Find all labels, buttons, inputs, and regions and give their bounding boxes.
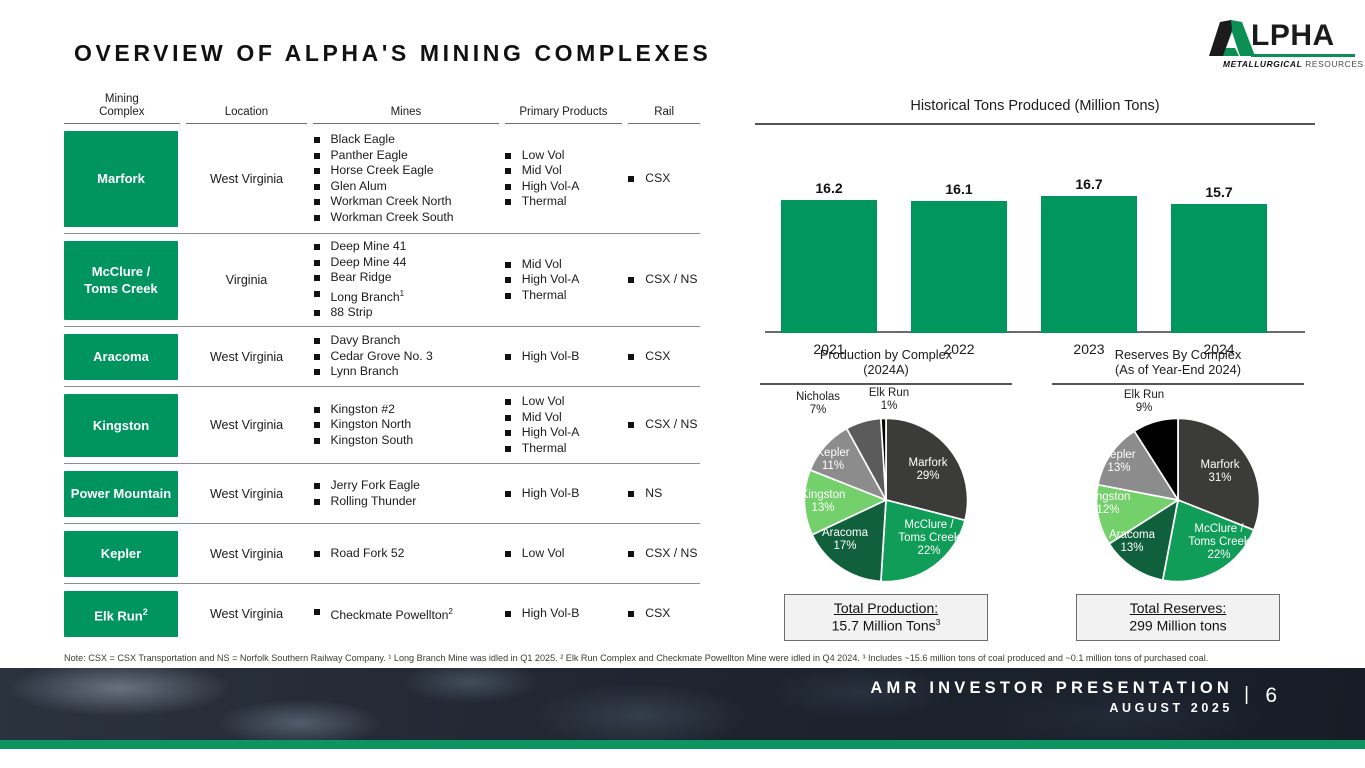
- table-row: AracomaWest VirginiaDavy BranchCedar Gro…: [64, 327, 700, 387]
- product-item-text: Mid Vol: [522, 410, 562, 426]
- mine-item-text: 88 Strip: [331, 305, 373, 321]
- product-item-text: Thermal: [522, 441, 567, 457]
- cell-location: West Virginia: [186, 387, 308, 463]
- production-pie-title-rule: [760, 383, 1012, 385]
- production-pie-title-line2: (2024A): [760, 362, 1012, 377]
- mine-item-text: Rolling Thunder: [331, 494, 417, 510]
- pie-label-elk-run: Elk Run 1%: [856, 387, 922, 413]
- mining-complex-table: Mining Complex Location Mines Primary Pr…: [64, 92, 700, 644]
- bullet-square-icon: [314, 407, 320, 413]
- location-text: Virginia: [186, 273, 308, 287]
- cell-mines: Black EaglePanther EagleHorse Creek Eagl…: [314, 124, 499, 233]
- product-item: High Vol-B: [505, 349, 580, 365]
- bullet-square-icon: [505, 611, 511, 617]
- footer-date: AUGUST 2025: [870, 701, 1233, 715]
- mine-item: Lynn Branch: [314, 364, 433, 380]
- rail-item-text: NS: [645, 486, 662, 502]
- bullet-square-icon: [628, 176, 634, 182]
- product-item: Thermal: [505, 194, 580, 210]
- product-item-text: High Vol-B: [522, 606, 580, 622]
- mine-item-text: Lynn Branch: [331, 364, 399, 380]
- footnote-note: Note: CSX = CSX Transportation and NS = …: [64, 652, 1309, 664]
- rail-item-text: CSX: [645, 606, 670, 622]
- cell-mining-complex: Kepler: [64, 524, 180, 583]
- mine-item-text: Black Eagle: [331, 132, 395, 148]
- product-item: Low Vol: [505, 148, 580, 164]
- mine-item-text: Road Fork 52: [331, 546, 405, 562]
- pie-label-kingston: Kingston 12%: [1070, 491, 1146, 517]
- location-text: West Virginia: [186, 547, 308, 561]
- pie-label-kepler: Kepler 11%: [802, 447, 864, 473]
- table-row: Elk Run2West VirginiaCheckmate Powellton…: [64, 584, 700, 644]
- cell-mining-complex: Elk Run2: [64, 584, 180, 644]
- cell-mines: Kingston #2Kingston NorthKingston South: [314, 387, 499, 463]
- total-production-value: 15.7 Million Tons3: [791, 617, 981, 634]
- alpha-a-mark-icon: [1209, 20, 1255, 58]
- reserves-pie-chart: Elk Run 9% Kepler 13% Kingston 12% Araco…: [1052, 387, 1304, 592]
- product-item: Mid Vol: [505, 257, 580, 273]
- bullet-square-icon: [314, 422, 320, 428]
- pie-label-marfork: Marfork 31%: [1182, 459, 1258, 485]
- cell-rail: CSX / NS: [628, 387, 700, 463]
- mine-item-text: Kingston South: [331, 433, 414, 449]
- product-item-text: Low Vol: [522, 394, 565, 410]
- rail-item-text: CSX: [645, 349, 670, 365]
- col-header-location: Location: [186, 92, 308, 124]
- table-row: MarforkWest VirginiaBlack EaglePanther E…: [64, 124, 700, 234]
- bullet-square-icon: [505, 551, 511, 557]
- mine-item: Glen Alum: [314, 179, 454, 195]
- cell-primary-products: High Vol-B: [505, 464, 623, 523]
- bar: [1171, 204, 1267, 333]
- bullet-square-icon: [628, 422, 634, 428]
- cell-mining-complex: McClure /Toms Creek: [64, 234, 180, 326]
- bullet-square-icon: [505, 262, 511, 268]
- historical-tons-bar-chart: Historical Tons Produced (Million Tons) …: [755, 98, 1315, 365]
- bullet-square-icon: [505, 277, 511, 283]
- table-body: MarforkWest VirginiaBlack EaglePanther E…: [64, 124, 700, 644]
- complex-name-badge[interactable]: Kingston: [64, 394, 178, 457]
- logo-wordmark: LPHA: [1251, 20, 1335, 52]
- product-item-text: Low Vol: [522, 546, 565, 562]
- pie-label-aracoma: Aracoma 13%: [1092, 529, 1172, 555]
- mine-item-text: Checkmate Powellton2: [331, 604, 453, 624]
- bullet-square-icon: [505, 168, 511, 174]
- product-item: Thermal: [505, 288, 580, 304]
- page-title: OVERVIEW OF ALPHA'S MINING COMPLEXES: [74, 40, 711, 67]
- cell-primary-products: High Vol-B: [505, 327, 623, 386]
- reserves-pie-title: Reserves By Complex (As of Year-End 2024…: [1052, 347, 1304, 377]
- total-reserves-box: Total Reserves: 299 Million tons: [1076, 594, 1280, 642]
- mine-item: Road Fork 52: [314, 546, 405, 562]
- pie-label-marfork: Marfork 29%: [890, 457, 966, 483]
- rail-item: CSX: [628, 606, 670, 622]
- mine-item-text: Davy Branch: [331, 333, 401, 349]
- cell-mining-complex: Kingston: [64, 387, 180, 463]
- bullet-square-icon: [314, 369, 320, 375]
- mine-item-text: Bear Ridge: [331, 270, 392, 286]
- product-item: High Vol-A: [505, 272, 580, 288]
- rail-item-text: CSX / NS: [645, 417, 697, 433]
- mine-item: Workman Creek North: [314, 194, 454, 210]
- bullet-square-icon: [505, 491, 511, 497]
- bullet-square-icon: [505, 199, 511, 205]
- bullet-square-icon: [314, 215, 320, 221]
- table-row: Power MountainWest VirginiaJerry Fork Ea…: [64, 464, 700, 524]
- rail-item-text: CSX / NS: [645, 272, 697, 288]
- cell-location: West Virginia: [186, 524, 308, 583]
- complex-name-badge[interactable]: Power Mountain: [64, 471, 178, 517]
- bullet-square-icon: [314, 153, 320, 159]
- rail-item-text: CSX: [645, 171, 670, 187]
- logo-subtitle-light: RESOURCES: [1305, 59, 1363, 69]
- bar-column: 16.1: [911, 181, 1007, 333]
- bullet-square-icon: [314, 184, 320, 190]
- bullet-square-icon: [505, 399, 511, 405]
- rail-item: CSX / NS: [628, 272, 697, 288]
- bar-chart-title: Historical Tons Produced (Million Tons): [755, 98, 1315, 114]
- pie-label-kingston: Kingston 13%: [785, 489, 861, 515]
- product-item-text: High Vol-A: [522, 179, 580, 195]
- product-item-text: Low Vol: [522, 148, 565, 164]
- bar: [781, 200, 877, 333]
- cell-rail: CSX: [628, 584, 700, 644]
- table-row: McClure /Toms CreekVirginiaDeep Mine 41D…: [64, 234, 700, 327]
- mine-item-text: Panther Eagle: [331, 148, 408, 164]
- cell-mining-complex: Aracoma: [64, 327, 180, 386]
- product-item-text: Thermal: [522, 288, 567, 304]
- cell-rail: CSX / NS: [628, 234, 700, 326]
- footer-green-strip: [0, 740, 1365, 749]
- cell-rail: CSX / NS: [628, 524, 700, 583]
- location-text: West Virginia: [186, 172, 308, 186]
- mine-item: Jerry Fork Eagle: [314, 478, 420, 494]
- bullet-square-icon: [505, 354, 511, 360]
- mine-item-text: Cedar Grove No. 3: [331, 349, 433, 365]
- mine-item-text: Jerry Fork Eagle: [331, 478, 420, 494]
- complex-name-badge[interactable]: Aracoma: [64, 334, 178, 380]
- total-production-label: Total Production:: [791, 600, 981, 616]
- bar-value-label: 16.1: [911, 181, 1007, 197]
- cell-mines: Checkmate Powellton2: [314, 584, 499, 644]
- complex-name-badge[interactable]: Marfork: [64, 131, 178, 227]
- product-item: Low Vol: [505, 394, 580, 410]
- bullet-square-icon: [314, 438, 320, 444]
- mine-item: Rolling Thunder: [314, 494, 420, 510]
- bar-column: 16.2: [781, 180, 877, 333]
- product-item-text: High Vol-B: [522, 486, 580, 502]
- bar-value-label: 16.2: [781, 180, 877, 196]
- product-item: High Vol-B: [505, 606, 580, 622]
- bullet-square-icon: [505, 293, 511, 299]
- cell-rail: NS: [628, 464, 700, 523]
- bullet-square-icon: [628, 611, 634, 617]
- bullet-square-icon: [628, 354, 634, 360]
- mine-item-text: Glen Alum: [331, 179, 387, 195]
- bar-column: 16.7: [1041, 176, 1137, 333]
- bullet-square-icon: [505, 446, 511, 452]
- alpha-logo: LPHA METALLURGICAL RESOURCES: [1205, 18, 1357, 76]
- cell-location: West Virginia: [186, 584, 308, 644]
- pie-label-nicholas: Nicholas 7%: [780, 391, 856, 417]
- production-pie-title: Production by Complex (2024A): [760, 347, 1012, 377]
- cell-mines: Deep Mine 41Deep Mine 44Bear RidgeLong B…: [314, 234, 499, 326]
- product-item-text: High Vol-A: [522, 425, 580, 441]
- mine-item: Davy Branch: [314, 333, 433, 349]
- mine-item: Kingston North: [314, 417, 414, 433]
- location-text: West Virginia: [186, 418, 308, 432]
- mine-item: Horse Creek Eagle: [314, 163, 454, 179]
- pie-label-mcclure-toms-creek: McClure / Toms Creek 22%: [1174, 523, 1264, 562]
- mine-item: Bear Ridge: [314, 270, 407, 286]
- mine-item: Workman Creek South: [314, 210, 454, 226]
- mine-item-text: Workman Creek South: [331, 210, 454, 226]
- bullet-square-icon: [628, 277, 634, 283]
- bullet-square-icon: [314, 499, 320, 505]
- cell-rail: CSX: [628, 124, 700, 233]
- mine-item-text: Workman Creek North: [331, 194, 452, 210]
- rail-item: CSX: [628, 349, 670, 365]
- table-header-row: Mining Complex Location Mines Primary Pr…: [64, 92, 700, 124]
- col-header-primary-products: Primary Products: [505, 92, 623, 124]
- bullet-square-icon: [314, 551, 320, 557]
- bullet-square-icon: [314, 199, 320, 205]
- bar-value-label: 15.7: [1171, 184, 1267, 200]
- logo-subtitle: METALLURGICAL RESOURCES: [1223, 59, 1364, 69]
- mine-item-text: Deep Mine 41: [331, 239, 407, 255]
- mine-item: Deep Mine 44: [314, 255, 407, 271]
- cell-mines: Jerry Fork EagleRolling Thunder: [314, 464, 499, 523]
- bullet-square-icon: [314, 244, 320, 250]
- mine-item-text: Kingston #2: [331, 402, 395, 418]
- product-item: Mid Vol: [505, 410, 580, 426]
- col-header-mining-complex-line2: Complex: [99, 106, 144, 119]
- bullet-square-icon: [314, 310, 320, 316]
- total-production-box: Total Production: 15.7 Million Tons3: [784, 594, 988, 642]
- bullet-square-icon: [314, 168, 320, 174]
- reserves-by-complex-pie-panel: Reserves By Complex (As of Year-End 2024…: [1052, 347, 1304, 641]
- slide-root: OVERVIEW OF ALPHA'S MINING COMPLEXES LPH…: [0, 0, 1365, 768]
- logo-subtitle-bold: METALLURGICAL: [1223, 59, 1302, 69]
- bullet-square-icon: [314, 354, 320, 360]
- col-header-mining-complex-line1: Mining: [99, 93, 144, 106]
- bullet-square-icon: [628, 551, 634, 557]
- mine-item: 88 Strip: [314, 305, 407, 321]
- rail-item: NS: [628, 486, 662, 502]
- product-item: Thermal: [505, 441, 580, 457]
- product-item-text: Mid Vol: [522, 257, 562, 273]
- mine-item: Kingston #2: [314, 402, 414, 418]
- mine-item: Black Eagle: [314, 132, 454, 148]
- bullet-square-icon: [628, 491, 634, 497]
- complex-name-badge[interactable]: Elk Run2: [64, 591, 178, 637]
- rail-item-text: CSX / NS: [645, 546, 697, 562]
- bar-chart-plot-area: 16.216.116.715.7: [755, 141, 1315, 333]
- bullet-square-icon: [505, 415, 511, 421]
- rail-item: CSX / NS: [628, 417, 697, 433]
- reserves-pie-title-line2: (As of Year-End 2024): [1052, 362, 1304, 377]
- production-pie-chart: Nicholas 7% Elk Run 1% Kepler 11% Kingst…: [760, 387, 1012, 592]
- location-text: West Virginia: [186, 487, 308, 501]
- cell-primary-products: Low VolMid VolHigh Vol-AThermal: [505, 387, 623, 463]
- product-item-text: High Vol-B: [522, 349, 580, 365]
- complex-name-badge[interactable]: Kepler: [64, 531, 178, 577]
- product-item: Low Vol: [505, 546, 565, 562]
- product-item-text: Mid Vol: [522, 163, 562, 179]
- pie-label-mcclure-toms-creek: McClure / Toms Creek 22%: [886, 519, 972, 558]
- bullet-square-icon: [505, 430, 511, 436]
- bar-chart-title-rule: [755, 123, 1315, 125]
- cell-mining-complex: Marfork: [64, 124, 180, 233]
- product-item: High Vol-B: [505, 486, 580, 502]
- bullet-square-icon: [314, 483, 320, 489]
- footer-page-number: 6: [1265, 684, 1277, 708]
- complex-name-badge[interactable]: McClure /Toms Creek: [64, 241, 178, 320]
- footer-title: AMR INVESTOR PRESENTATION: [870, 679, 1233, 698]
- location-text: West Virginia: [186, 350, 308, 364]
- bullet-square-icon: [505, 153, 511, 159]
- bar-value-label: 16.7: [1041, 176, 1137, 192]
- cell-location: West Virginia: [186, 464, 308, 523]
- table-row: KingstonWest VirginiaKingston #2Kingston…: [64, 387, 700, 464]
- pie-label-kepler: Kepler 13%: [1088, 449, 1150, 475]
- mine-item-text: Long Branch1: [331, 286, 405, 306]
- cell-location: West Virginia: [186, 327, 308, 386]
- bullet-square-icon: [314, 260, 320, 266]
- bullet-square-icon: [505, 184, 511, 190]
- production-pie-title-line1: Production by Complex: [760, 347, 1012, 362]
- mine-item-text: Kingston North: [331, 417, 412, 433]
- mine-item-text: Horse Creek Eagle: [331, 163, 434, 179]
- bar-column: 15.7: [1171, 184, 1267, 333]
- mine-item: Cedar Grove No. 3: [314, 349, 433, 365]
- total-reserves-label: Total Reserves:: [1083, 600, 1273, 616]
- mine-item: Deep Mine 41: [314, 239, 407, 255]
- cell-rail: CSX: [628, 327, 700, 386]
- cell-primary-products: Low Vol: [505, 524, 623, 583]
- reserves-pie-title-rule: [1052, 383, 1304, 385]
- mine-item-text: Deep Mine 44: [331, 255, 407, 271]
- product-item: Mid Vol: [505, 163, 580, 179]
- cell-primary-products: Low VolMid VolHigh Vol-AThermal: [505, 124, 623, 233]
- mine-item: Panther Eagle: [314, 148, 454, 164]
- product-item-text: High Vol-A: [522, 272, 580, 288]
- location-text: West Virginia: [186, 607, 308, 621]
- bullet-square-icon: [314, 275, 320, 281]
- cell-location: West Virginia: [186, 124, 308, 233]
- bar: [1041, 196, 1137, 333]
- footer-separator: |: [1244, 684, 1249, 706]
- rail-item: CSX: [628, 171, 670, 187]
- product-item: High Vol-A: [505, 425, 580, 441]
- mine-item: Long Branch1: [314, 286, 407, 306]
- cell-location: Virginia: [186, 234, 308, 326]
- cell-mining-complex: Power Mountain: [64, 464, 180, 523]
- production-by-complex-pie-panel: Production by Complex (2024A) Nicholas 7…: [760, 347, 1012, 641]
- logo-rule: [1251, 54, 1355, 57]
- bullet-square-icon: [314, 338, 320, 344]
- bar: [911, 201, 1007, 333]
- product-item: High Vol-A: [505, 179, 580, 195]
- col-header-mines: Mines: [313, 92, 498, 124]
- mine-item: Checkmate Powellton2: [314, 604, 453, 624]
- footer-presentation-text: AMR INVESTOR PRESENTATION AUGUST 2025: [870, 679, 1233, 715]
- rail-item: CSX / NS: [628, 546, 697, 562]
- reserves-pie-title-line1: Reserves By Complex: [1052, 347, 1304, 362]
- product-item-text: Thermal: [522, 194, 567, 210]
- bullet-square-icon: [314, 291, 320, 297]
- cell-primary-products: Mid VolHigh Vol-AThermal: [505, 234, 623, 326]
- total-reserves-value: 299 Million tons: [1083, 617, 1273, 634]
- cell-mines: Road Fork 52: [314, 524, 499, 583]
- table-row: KeplerWest VirginiaRoad Fork 52Low VolCS…: [64, 524, 700, 584]
- cell-primary-products: High Vol-B: [505, 584, 623, 644]
- bullet-square-icon: [314, 609, 320, 615]
- pie-label-aracoma: Aracoma 17%: [805, 527, 885, 553]
- bullet-square-icon: [314, 137, 320, 143]
- pie-label-elk-run: Elk Run 9%: [1104, 389, 1184, 415]
- cell-mines: Davy BranchCedar Grove No. 3Lynn Branch: [314, 327, 499, 386]
- mine-item: Kingston South: [314, 433, 414, 449]
- col-header-mining-complex: Mining Complex: [64, 92, 180, 124]
- col-header-rail: Rail: [628, 92, 700, 124]
